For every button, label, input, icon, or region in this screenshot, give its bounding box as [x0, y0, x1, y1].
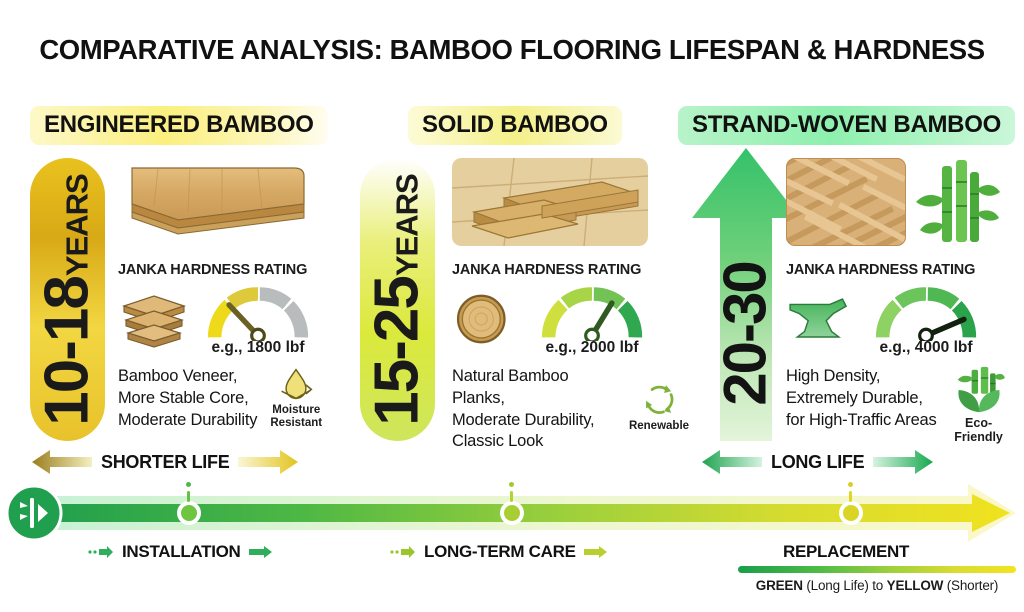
timeline-node-dash: [510, 491, 513, 502]
legend-green-note: (Long Life) to: [803, 578, 887, 593]
description-line: for High-Traffic Areas: [786, 410, 937, 432]
lifespan-unit-engineered: YEARS: [62, 174, 93, 276]
caption-line: Renewable: [629, 420, 689, 433]
janka-gauge-row-engineered: e.g., 1800 lbf: [118, 284, 354, 358]
timeline-node-dash: [187, 491, 190, 502]
long-life-label: LONG LIFE: [771, 452, 864, 473]
description-strand-woven: High Density, Extremely Durable, for Hig…: [786, 366, 937, 431]
arrow-left-icon: [700, 449, 762, 475]
stacked-bamboo-planks-image: [452, 158, 648, 246]
gauge-dial-icon: [868, 285, 984, 341]
stage-installation: INSTALLATION: [88, 542, 273, 562]
stage-long-term-care: LONG-TERM CARE: [390, 542, 608, 562]
long-life-row: LONG LIFE: [700, 449, 935, 475]
water-droplet-icon: [276, 366, 316, 402]
lifespan-unit-solid: YEARS: [392, 174, 423, 276]
gauge-dial-icon: [200, 285, 316, 341]
description-line: Moderate Durability,: [452, 410, 620, 432]
description-line: More Stable Core,: [118, 388, 257, 410]
description-line: High Density,: [786, 366, 937, 388]
arrow-right-icon: [873, 449, 935, 475]
legend-green-word: GREEN: [756, 578, 803, 593]
stage-label-long-term-care: LONG-TERM CARE: [424, 542, 576, 562]
gauge-engineered: e.g., 1800 lbf: [200, 285, 316, 357]
janka-gauge-row-strand-woven: e.g., 4000 lbf: [786, 284, 1024, 358]
janka-gauge-row-solid: e.g., 2000 lbf: [452, 284, 692, 358]
description-row-strand-woven: High Density, Extremely Durable, for Hig…: [786, 366, 1024, 444]
lifespan-range-strand-woven: 20-30: [716, 262, 776, 405]
product-image-row-strand-woven: [786, 158, 1024, 250]
legend-yellow-note: (Shorter): [943, 578, 998, 593]
arrow-right-icon: [249, 545, 273, 559]
janka-label-engineered: JANKA HARDNESS RATING: [118, 262, 354, 278]
arrow-right-icon: [584, 545, 608, 559]
layered-plank-icon: [118, 290, 190, 352]
column-engineered: JANKA HARDNESS RATING: [118, 158, 354, 431]
gauge-solid: e.g., 2000 lbf: [534, 285, 650, 357]
caption-line: Eco-Friendly: [943, 416, 1015, 444]
gauge-dial-icon: [534, 285, 650, 341]
description-engineered: Bamboo Veneer, More Stable Core, Moderat…: [118, 366, 257, 431]
bamboo-log-cross-section-icon: [452, 290, 524, 352]
badge-eco-friendly: Eco-Friendly: [943, 366, 1015, 444]
janka-value-engineered: e.g., 1800 lbf: [211, 339, 304, 357]
badge-caption-renewable: Renewable: [629, 420, 689, 433]
lifespan-range-solid: 15-25: [367, 277, 429, 426]
column-solid: JANKA HARDNESS RATING: [452, 158, 692, 453]
timeline-node-dot: [186, 482, 191, 487]
column-header-engineered: ENGINEERED BAMBOO: [30, 106, 328, 145]
arrow-right-icon: [238, 449, 300, 475]
legend-text: GREEN (Long Life) to YELLOW (Shorter): [732, 578, 1022, 593]
shorter-life-row: SHORTER LIFE: [30, 449, 300, 475]
caption-line: Resistant: [270, 417, 322, 430]
janka-value-strand-woven: e.g., 4000 lbf: [879, 339, 972, 357]
anvil-icon: [786, 290, 858, 352]
lifespan-range-engineered: 10-18: [37, 277, 99, 426]
description-line: Natural Bamboo Planks,: [452, 366, 620, 410]
badge-renewable: Renewable: [626, 380, 692, 433]
shorter-life-label: SHORTER LIFE: [101, 452, 229, 473]
lifecycle-timeline: [0, 482, 1024, 544]
stage-label-installation: INSTALLATION: [122, 542, 241, 562]
description-solid: Natural Bamboo Planks, Moderate Durabili…: [452, 366, 620, 453]
gauge-strand-woven: e.g., 4000 lbf: [868, 285, 984, 357]
infographic-root: COMPARATIVE ANALYSIS: BAMBOO FLOORING LI…: [0, 0, 1024, 612]
herringbone-woven-texture-image: [786, 158, 906, 246]
stage-label-replacement: REPLACEMENT: [783, 542, 909, 562]
janka-label-solid: JANKA HARDNESS RATING: [452, 262, 692, 278]
lifespan-badge-engineered: 10-18 YEARS: [30, 158, 105, 441]
timeline-node-dot: [848, 482, 853, 487]
badge-caption-moisture: Moisture Resistant: [270, 404, 322, 430]
recycle-arrows-icon: [640, 380, 678, 418]
stage-replacement: REPLACEMENT: [783, 542, 909, 562]
janka-label-strand-woven: JANKA HARDNESS RATING: [786, 262, 1024, 278]
description-row-engineered: Bamboo Veneer, More Stable Core, Moderat…: [118, 366, 354, 431]
description-line: Bamboo Veneer,: [118, 366, 257, 388]
timeline-node-dash: [849, 491, 852, 502]
column-header-strand-woven: STRAND-WOVEN BAMBOO: [678, 106, 1015, 145]
dotted-arrow-right-icon: [88, 545, 114, 559]
description-row-solid: Natural Bamboo Planks, Moderate Durabili…: [452, 366, 692, 453]
dotted-arrow-right-icon: [390, 545, 416, 559]
bamboo-stalks-image: [912, 158, 1000, 246]
description-line: Classic Look: [452, 431, 620, 453]
description-line: Moderate Durability: [118, 410, 257, 432]
column-header-solid: SOLID BAMBOO: [408, 106, 622, 145]
product-image-row-solid: [452, 158, 692, 250]
badge-caption-eco: Eco-Friendly: [943, 416, 1015, 444]
legend-yellow-word: YELLOW: [887, 578, 944, 593]
page-title: COMPARATIVE ANALYSIS: BAMBOO FLOORING LI…: [0, 34, 1024, 66]
legend-gradient-bar: [738, 566, 1016, 573]
badge-moisture-resistant: Moisture Resistant: [263, 366, 329, 430]
caption-line: Moisture: [270, 404, 322, 417]
product-image-row-engineered: [118, 158, 354, 250]
lifespan-badge-solid: 15-25 YEARS: [360, 158, 435, 441]
janka-value-solid: e.g., 2000 lbf: [545, 339, 638, 357]
engineered-plank-layers-image: [118, 158, 314, 246]
arrow-left-icon: [30, 449, 92, 475]
color-legend: GREEN (Long Life) to YELLOW (Shorter): [732, 566, 1022, 593]
timeline-node-dot: [509, 482, 514, 487]
column-strand-woven: JANKA HARDNESS RATING: [786, 158, 1024, 444]
bamboo-leaf-icon: [952, 366, 1006, 414]
description-line: Extremely Durable,: [786, 388, 937, 410]
